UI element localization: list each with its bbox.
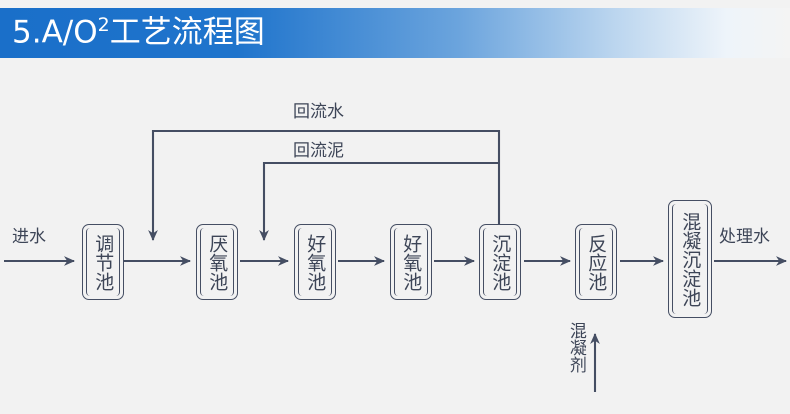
label-recycle-water: 回流水 [293, 104, 344, 121]
node-regulating-tank-inner: 调节池 [86, 228, 120, 296]
node-reaction-tank[interactable]: 反应池 [575, 224, 617, 300]
node-anaerobic-tank[interactable]: 厌氧池 [196, 224, 238, 300]
label-outlet: 处理水 [719, 229, 770, 246]
node-reaction-tank-inner: 反应池 [579, 228, 613, 296]
node-label-aerobic-tank-2: 好氧池 [401, 234, 422, 291]
page-title-tail: 工艺流程图 [110, 15, 265, 51]
node-coagulation-sedimentation-tank-inner: 混凝沉淀池 [672, 204, 708, 314]
label-inlet: 进水 [12, 229, 46, 246]
node-anaerobic-tank-inner: 厌氧池 [200, 228, 234, 296]
title-banner: 5.A/O2工艺流程图 [0, 8, 790, 58]
node-label-regulating-tank: 调节池 [93, 234, 114, 291]
node-aerobic-tank-2[interactable]: 好氧池 [390, 224, 432, 300]
page-title-main: 5.A/O [12, 15, 98, 51]
node-aerobic-tank-2-inner: 好氧池 [394, 228, 428, 296]
node-sedimentation-tank[interactable]: 沉淀池 [479, 224, 521, 300]
label-coagulant: 混凝剂 [566, 322, 584, 373]
node-label-anaerobic-tank: 厌氧池 [207, 234, 228, 291]
diagram-page: 5.A/O2工艺流程图 [0, 0, 790, 414]
page-title: 5.A/O2工艺流程图 [12, 18, 265, 49]
node-aerobic-tank-1[interactable]: 好氧池 [294, 224, 336, 300]
node-regulating-tank[interactable]: 调节池 [82, 224, 124, 300]
node-label-sedimentation-tank: 沉淀池 [490, 234, 511, 291]
node-label-coagulation-sedimentation-tank: 混凝沉淀池 [680, 212, 701, 307]
node-coagulation-sedimentation-tank[interactable]: 混凝沉淀池 [668, 200, 712, 318]
node-aerobic-tank-1-inner: 好氧池 [298, 228, 332, 296]
node-label-reaction-tank: 反应池 [586, 234, 607, 291]
page-title-superscript: 2 [98, 14, 110, 36]
node-sedimentation-tank-inner: 沉淀池 [483, 228, 517, 296]
node-label-aerobic-tank-1: 好氧池 [305, 234, 326, 291]
label-recycle-sludge: 回流泥 [293, 143, 344, 160]
